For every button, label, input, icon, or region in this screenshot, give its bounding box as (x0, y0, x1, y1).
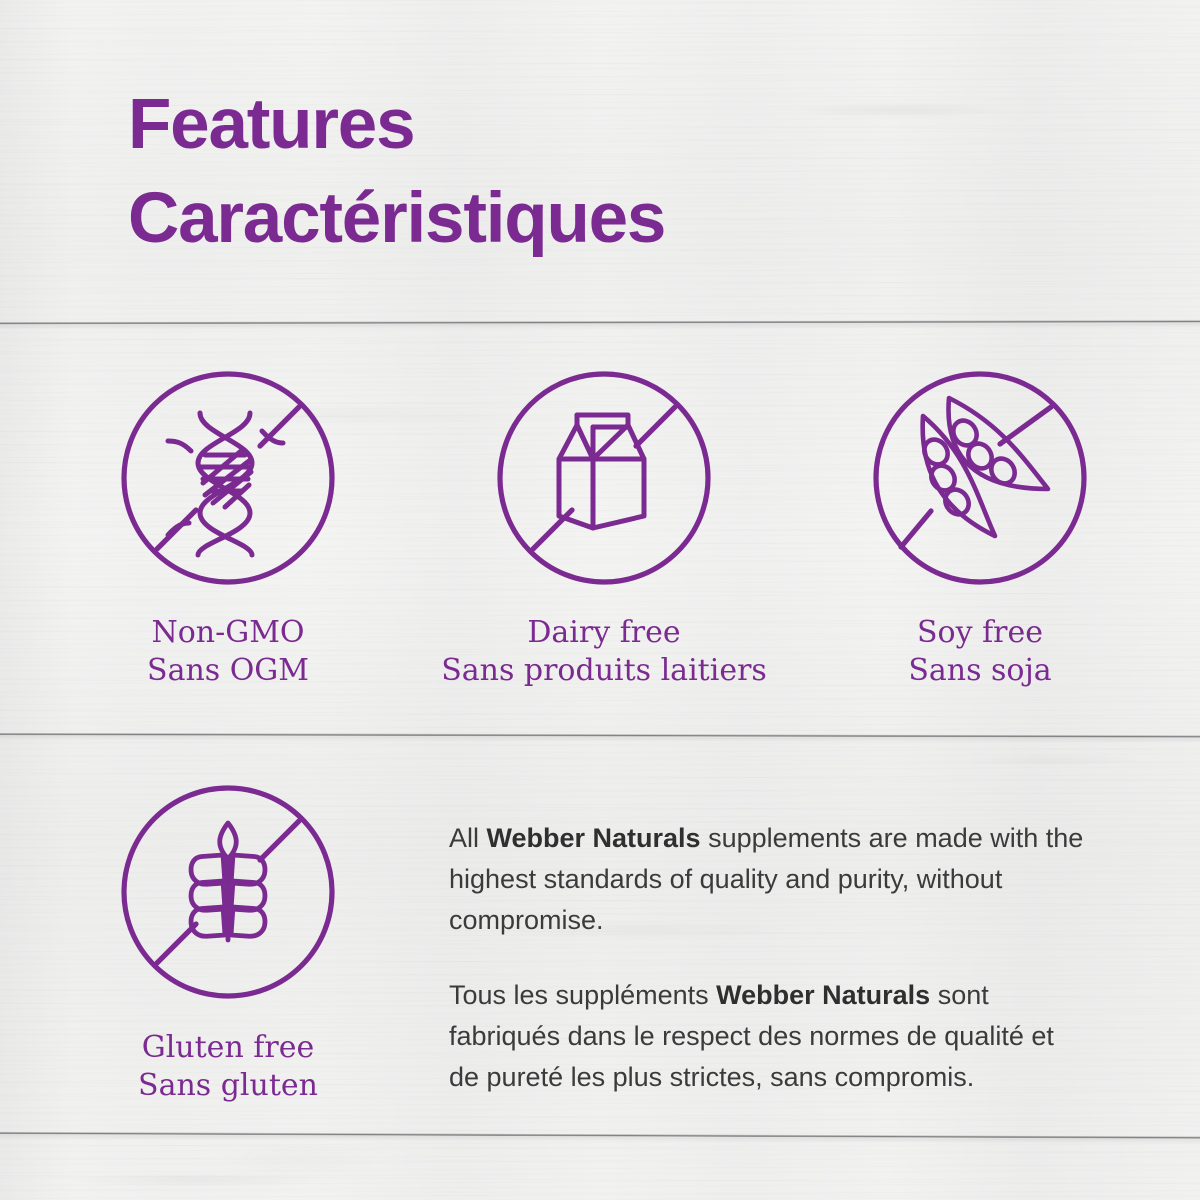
feature-label-fr: Sans soja (780, 652, 1180, 690)
content-layer: Features Caractéristiques (0, 0, 1200, 1200)
page-title: Features Caractéristiques (128, 78, 665, 266)
feature-caption-gluten-free: Gluten free Sans gluten (28, 1029, 428, 1105)
brand-name-fr: Webber Naturals (716, 980, 930, 1010)
description-block: All Webber Naturals supplements are made… (449, 818, 1089, 1098)
slash-lower (157, 924, 196, 963)
slash-upper (260, 821, 299, 860)
description-paragraph-fr: Tous les suppléments Webber Naturals son… (449, 975, 1089, 1098)
no-soy-pods-icon (873, 371, 1087, 585)
feature-label-en: Non-GMO (28, 614, 428, 652)
no-dairy-milk-carton-icon (497, 371, 711, 585)
wheat-stalk (190, 823, 266, 940)
feature-label-en: Soy free (780, 614, 1180, 652)
feature-label-fr: Sans gluten (28, 1067, 428, 1105)
no-gmo-dna-icon (121, 371, 335, 585)
page-title-fr: Caractéristiques (128, 172, 665, 266)
feature-label-en: Gluten free (28, 1029, 428, 1067)
no-gluten-wheat-icon (121, 785, 335, 999)
paragraph-en-prefix: All (449, 823, 487, 853)
paragraph-fr-prefix: Tous les suppléments (449, 980, 716, 1010)
feature-caption-non-gmo: Non-GMO Sans OGM (28, 614, 428, 690)
page-title-en: Features (128, 78, 665, 172)
features-panel: Features Caractéristiques (0, 0, 1200, 1200)
brand-name-en: Webber Naturals (487, 823, 701, 853)
slash-lower (533, 510, 572, 549)
slash-upper (636, 407, 675, 446)
dna-helix (168, 413, 283, 555)
description-paragraph-en: All Webber Naturals supplements are made… (449, 818, 1089, 941)
feature-label-fr: Sans OGM (28, 652, 428, 690)
slash-lower (901, 511, 931, 547)
feature-caption-dairy-free: Dairy free Sans produits laitiers (404, 614, 804, 690)
feature-label-en: Dairy free (404, 614, 804, 652)
feature-caption-soy-free: Soy free Sans soja (780, 614, 1180, 690)
feature-label-fr: Sans produits laitiers (404, 652, 804, 690)
